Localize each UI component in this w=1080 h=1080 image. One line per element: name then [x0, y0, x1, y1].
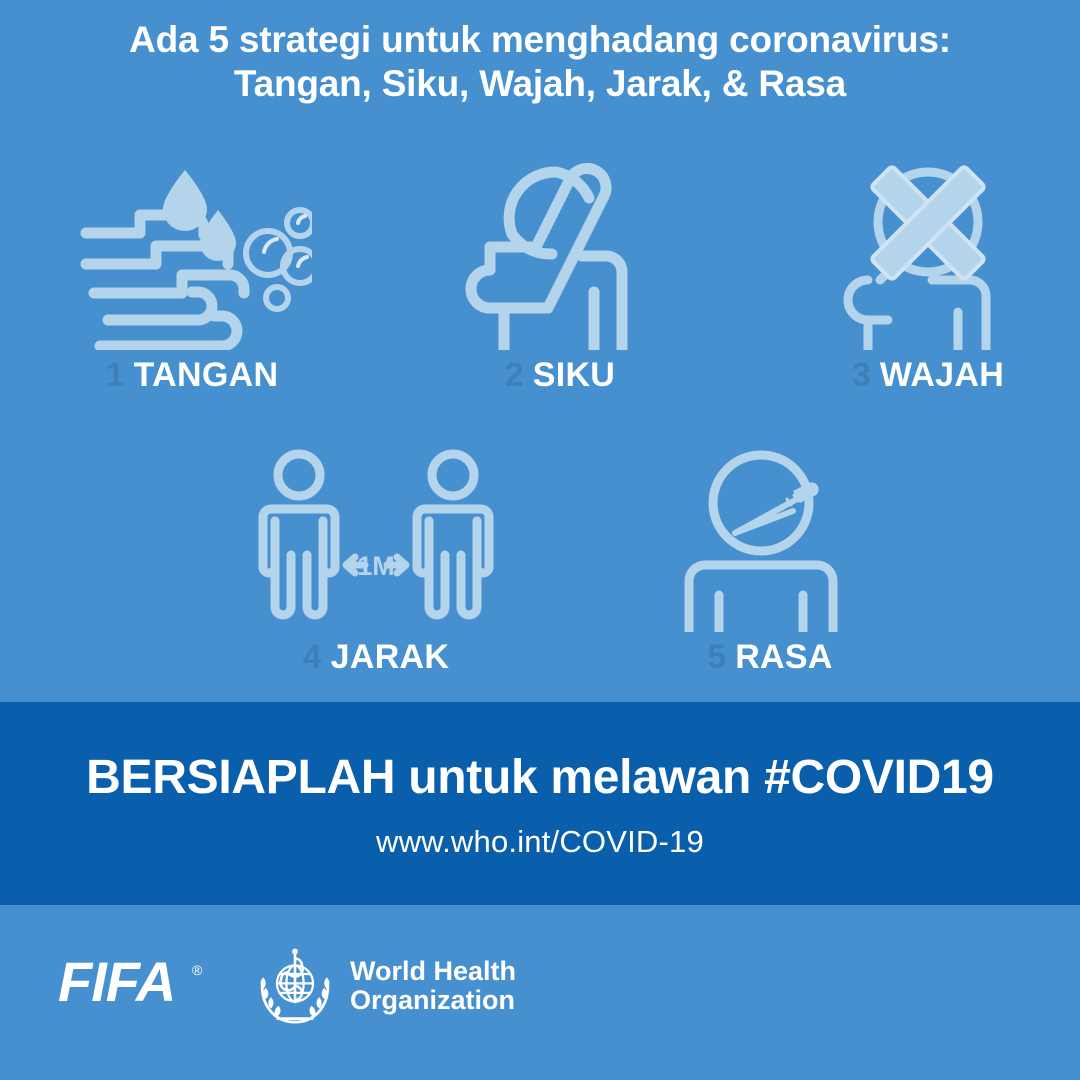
step-caption: 2SIKU: [410, 358, 710, 392]
who-logo: World Health Organization: [252, 943, 516, 1029]
banner-headline: BERSIAPLAH untuk melawan #COVID19: [0, 750, 1080, 805]
step-caption: 5RASA: [620, 640, 920, 674]
who-emblem-icon: [252, 943, 338, 1029]
poster-canvas: Ada 5 strategi untuk menghadang coronavi…: [0, 0, 1080, 1080]
step-caption: 3WAJAH: [778, 358, 1078, 392]
who-wordmark-line-2: Organization: [350, 986, 516, 1015]
cough-into-elbow-icon: [410, 150, 710, 350]
step-label: WAJAH: [880, 356, 1004, 394]
distance-label: 1M: [357, 551, 395, 581]
fifa-logo: FIFA ®: [58, 953, 208, 1020]
social-distancing-icon: 1M: [226, 432, 526, 632]
do-not-touch-face-icon: [778, 150, 1078, 350]
who-wordmark-line-1: World Health: [350, 957, 516, 986]
step-card-jarak: 1M 4JARAK: [226, 432, 526, 674]
feeling-unwell-thermometer-icon: [620, 432, 920, 632]
logo-row: FIFA ®: [58, 943, 516, 1029]
page-title: Ada 5 strategi untuk menghadang coronavi…: [0, 18, 1080, 105]
step-label: SIKU: [533, 356, 615, 394]
step-label: RASA: [735, 638, 833, 676]
step-label: TANGAN: [134, 356, 279, 394]
handwashing-icon: [42, 150, 342, 350]
fifa-trademark-icon: ®: [192, 962, 203, 978]
step-caption: 4JARAK: [226, 640, 526, 674]
step-card-siku: 2SIKU: [410, 150, 710, 392]
step-number: 5: [707, 638, 726, 676]
step-number: 1: [106, 356, 125, 394]
step-card-tangan: 1TANGAN: [42, 150, 342, 392]
step-caption: 1TANGAN: [42, 358, 342, 392]
step-number: 4: [303, 638, 322, 676]
headline-line-1: Ada 5 strategi untuk menghadang coronavi…: [0, 18, 1080, 62]
step-card-wajah: 3WAJAH: [778, 150, 1078, 392]
step-number: 2: [505, 356, 524, 394]
step-number: 3: [852, 356, 871, 394]
step-card-rasa: 5RASA: [620, 432, 920, 674]
who-wordmark: World Health Organization: [350, 957, 516, 1015]
footer: FIFA ®: [0, 905, 1080, 1080]
call-to-action-banner: BERSIAPLAH untuk melawan #COVID19 www.wh…: [0, 702, 1080, 905]
banner-url[interactable]: www.who.int/COVID-19: [0, 824, 1080, 860]
headline-line-2: Tangan, Siku, Wajah, Jarak, & Rasa: [0, 62, 1080, 106]
fifa-wordmark: FIFA: [58, 953, 175, 1013]
step-label: JARAK: [331, 638, 450, 676]
